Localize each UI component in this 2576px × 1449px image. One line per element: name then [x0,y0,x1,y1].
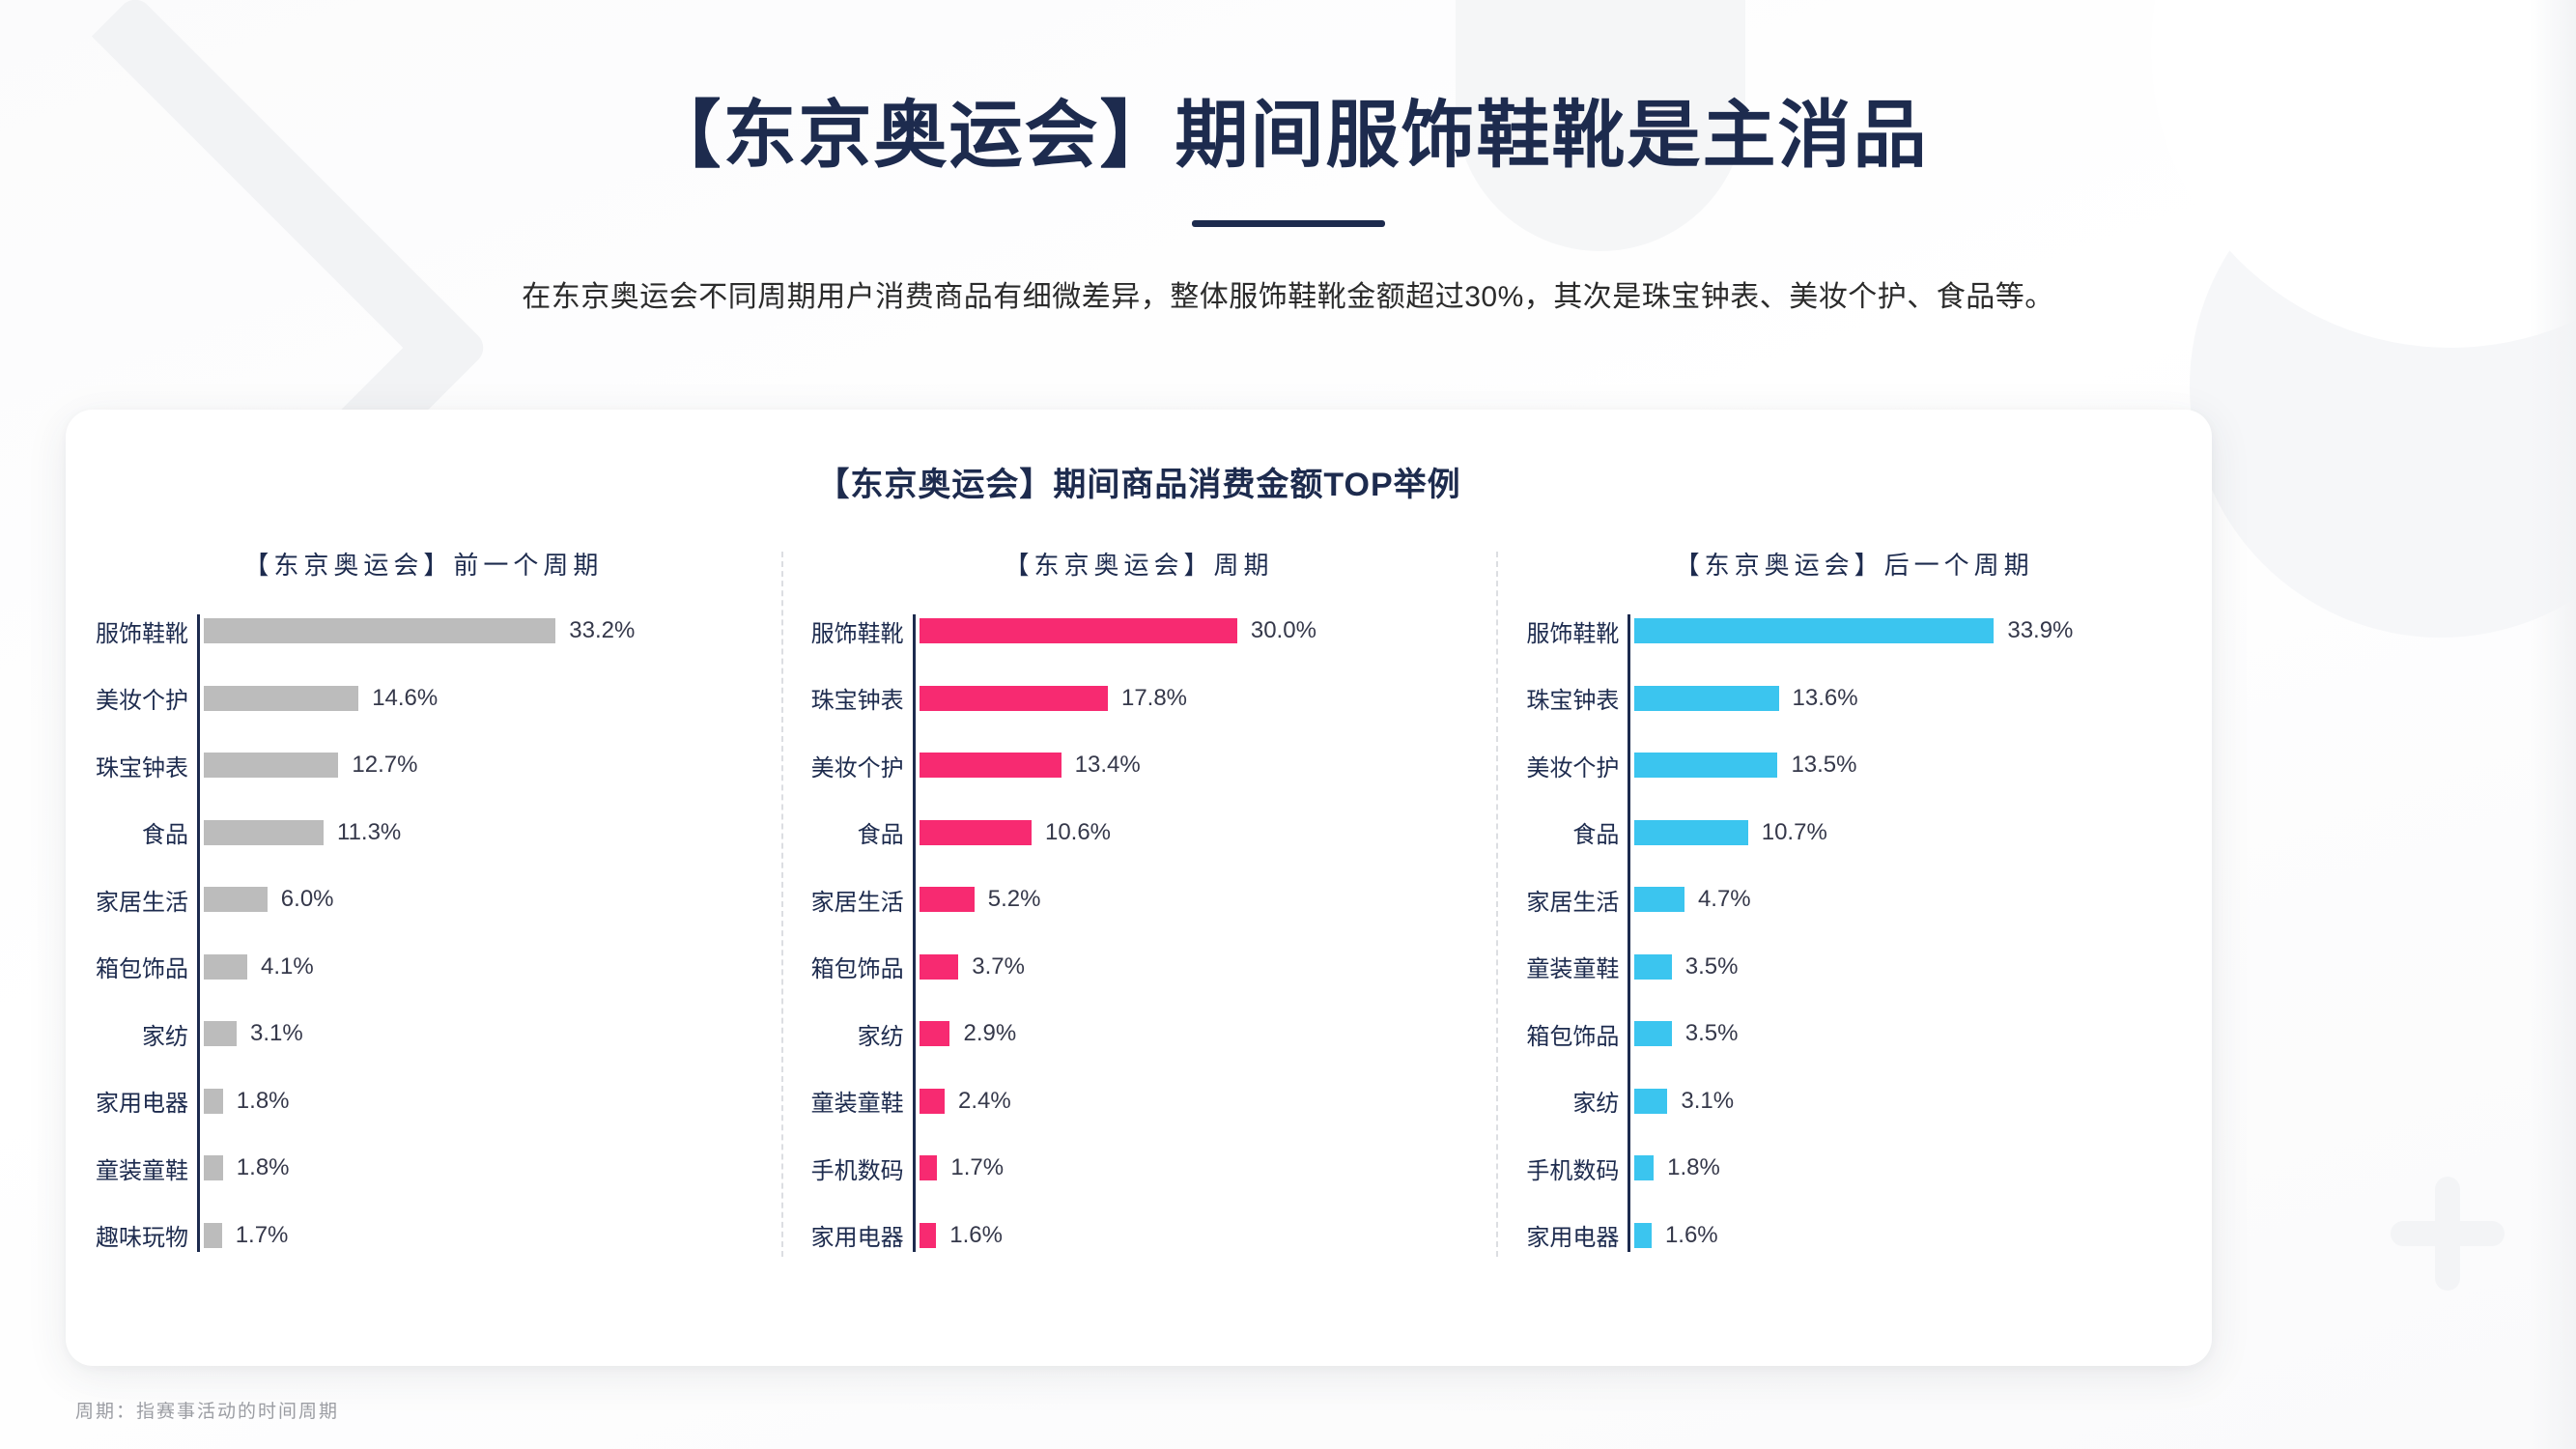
bar [204,618,555,643]
bar-category-label: 手机数码 [811,1151,904,1185]
chart-panels: 【东京奥运会】前一个周期服饰鞋靴33.2%美妆个护14.6%珠宝钟表12.7%食… [66,546,2212,1299]
bar-category-label: 童装童鞋 [811,1084,904,1118]
bar-category-label: 家用电器 [96,1084,188,1118]
bar-value-label: 17.8% [1121,685,1187,712]
bar-value-label: 14.6% [372,685,438,712]
infographic-canvas: 【东京奥运会】期间服饰鞋靴是主消品 在东京奥运会不同周期用户消费商品有细微差异，… [0,0,2576,1449]
bar-row[interactable]: 珠宝钟表17.8% [920,682,1470,715]
page-subtitle: 在东京奥运会不同周期用户消费商品有细微差异，整体服饰鞋靴金额超过30%，其次是珠… [0,275,2576,319]
bar-category-label: 童装童鞋 [1526,950,1619,983]
bar-value-label: 3.5% [1685,953,1739,980]
bar-row[interactable]: 家纺2.9% [920,1017,1470,1050]
bar-value-label: 3.5% [1685,1020,1739,1047]
background-plus-icon-bar [2391,1221,2505,1246]
bar [1634,887,1684,912]
bar [920,887,975,912]
bar-value-label: 3.7% [972,953,1025,980]
bar-row[interactable]: 家居生活4.7% [1634,883,2185,916]
chart-panel-2: 【东京奥运会】周期服饰鞋靴30.0%珠宝钟表17.8%美妆个护13.4%食品10… [781,546,1497,1299]
bar-row[interactable]: 童装童鞋3.5% [1634,951,2185,983]
bar-value-label: 1.8% [1667,1154,1720,1181]
bar-value-label: 1.6% [949,1222,1003,1249]
bar [1634,1223,1652,1248]
panel-title: 【东京奥运会】周期 [791,546,1487,582]
bar-value-label: 13.5% [1791,752,1856,779]
bar [1634,1089,1667,1114]
bar-row[interactable]: 家用电器1.6% [1634,1219,2185,1252]
bar [1634,954,1671,980]
bar-row[interactable]: 箱包饰品3.5% [1634,1017,2185,1050]
bar-row[interactable]: 食品11.3% [204,816,754,849]
bar-category-label: 家纺 [1572,1084,1619,1118]
bar-row[interactable]: 服饰鞋靴33.9% [1634,614,2185,647]
bar-value-label: 3.1% [250,1020,303,1047]
bar-row[interactable]: 食品10.6% [920,816,1470,849]
bar-value-label: 2.9% [963,1020,1016,1047]
bar-category-label: 美妆个护 [811,749,904,782]
bar-value-label: 10.7% [1762,819,1827,846]
chart-panel-1: 【东京奥运会】前一个周期服饰鞋靴33.2%美妆个护14.6%珠宝钟表12.7%食… [66,546,781,1299]
bar-category-label: 箱包饰品 [96,950,188,983]
page-title: 【东京奥运会】期间服饰鞋靴是主消品 [0,93,2576,180]
bar [204,1223,222,1248]
bar-category-label: 手机数码 [1526,1151,1619,1185]
bar-category-label: 服饰鞋靴 [811,614,904,648]
bar [920,1021,950,1046]
bar-value-label: 10.6% [1045,819,1111,846]
bar [204,820,324,845]
bar [920,753,1062,778]
bar-category-label: 家居生活 [96,883,188,917]
chart-card: 【东京奥运会】期间商品消费金额TOP举例 【东京奥运会】前一个周期服饰鞋靴33.… [66,410,2212,1366]
bar-row[interactable]: 珠宝钟表13.6% [1634,682,2185,715]
bar-row[interactable]: 家用电器1.6% [920,1219,1470,1252]
chart-panel-3: 【东京奥运会】后一个周期服饰鞋靴33.9%珠宝钟表13.6%美妆个护13.5%食… [1496,546,2212,1299]
bar [1634,753,1777,778]
bar-value-label: 4.7% [1698,886,1751,913]
panel-title: 【东京奥运会】后一个周期 [1506,546,2202,582]
bar-value-label: 13.6% [1793,685,1858,712]
bar [204,1021,237,1046]
bar-row[interactable]: 珠宝钟表12.7% [204,749,754,781]
plot-area: 服饰鞋靴33.9%珠宝钟表13.6%美妆个护13.5%食品10.7%家居生活4.… [1628,614,2185,1252]
bar [1634,618,1994,643]
bar [920,618,1237,643]
bar-category-label: 家居生活 [811,883,904,917]
bar [1634,820,1747,845]
bar-row[interactable]: 食品10.7% [1634,816,2185,849]
bar-value-label: 1.8% [237,1154,290,1181]
bar-category-label: 珠宝钟表 [96,749,188,782]
bar-category-label: 美妆个护 [1526,749,1619,782]
bar-category-label: 童装童鞋 [96,1151,188,1185]
bar [1634,686,1778,711]
bar-row[interactable]: 美妆个护13.4% [920,749,1470,781]
bar-value-label: 6.0% [281,886,334,913]
bar-row[interactable]: 家纺3.1% [204,1017,754,1050]
bar-row[interactable]: 美妆个护13.5% [1634,749,2185,781]
bar-value-label: 11.3% [337,819,401,846]
bar [1634,1021,1671,1046]
bar-row[interactable]: 服饰鞋靴30.0% [920,614,1470,647]
bar-category-label: 家纺 [142,1017,188,1051]
bar-value-label: 30.0% [1251,617,1316,644]
page-header: 【东京奥运会】期间服饰鞋靴是主消品 在东京奥运会不同周期用户消费商品有细微差异，… [0,0,2576,319]
bar [920,954,959,980]
bar-row[interactable]: 童装童鞋1.8% [204,1151,754,1184]
title-underline-rule [1192,220,1385,227]
bar-value-label: 4.1% [261,953,314,980]
bar-row[interactable]: 手机数码1.8% [1634,1151,2185,1184]
bar-row[interactable]: 家用电器1.8% [204,1085,754,1118]
bar-row[interactable]: 家居生活6.0% [204,883,754,916]
bar [920,686,1108,711]
bar-category-label: 珠宝钟表 [811,681,904,715]
bar [204,1089,223,1114]
bar-value-label: 33.2% [569,617,635,644]
bar-row[interactable]: 家纺3.1% [1634,1085,2185,1118]
bar [204,686,358,711]
chart-title: 【东京奥运会】期间商品消费金额TOP举例 [66,458,2212,505]
bar-category-label: 服饰鞋靴 [1526,614,1619,648]
bar-category-label: 美妆个护 [96,681,188,715]
bar-category-label: 趣味玩物 [96,1218,188,1252]
bar-category-label: 食品 [142,815,188,849]
bar-value-label: 1.6% [1665,1222,1718,1249]
panel-title: 【东京奥运会】前一个周期 [75,546,772,582]
bar-row[interactable]: 美妆个护14.6% [204,682,754,715]
footnote: 周期：指赛事活动的时间周期 [75,1397,339,1423]
bar-row[interactable]: 趣味玩物1.7% [204,1219,754,1252]
bar-value-label: 5.2% [988,886,1041,913]
plot-area: 服饰鞋靴33.2%美妆个护14.6%珠宝钟表12.7%食品11.3%家居生活6.… [197,614,754,1252]
bar-value-label: 3.1% [1681,1088,1734,1115]
bar [920,1155,938,1180]
bar-row[interactable]: 手机数码1.7% [920,1151,1470,1184]
bar-value-label: 1.8% [237,1088,290,1115]
bar [204,954,247,980]
bar-category-label: 食品 [858,815,904,849]
bar [204,1155,223,1180]
bar-category-label: 食品 [1572,815,1619,849]
bar-category-label: 家用电器 [1526,1218,1619,1252]
bar [920,1089,945,1114]
bar [920,1223,937,1248]
bar-row[interactable]: 服饰鞋靴33.2% [204,614,754,647]
bar [204,887,268,912]
bar-row[interactable]: 童装童鞋2.4% [920,1085,1470,1118]
bar-value-label: 1.7% [950,1154,1004,1181]
bar-category-label: 家居生活 [1526,883,1619,917]
bar-value-label: 33.9% [2007,617,2073,644]
bar-value-label: 2.4% [958,1088,1011,1115]
bar-category-label: 家用电器 [811,1218,904,1252]
background-plus-icon [2435,1177,2460,1291]
bar-category-label: 家纺 [858,1017,904,1051]
plot-area: 服饰鞋靴30.0%珠宝钟表17.8%美妆个护13.4%食品10.6%家居生活5.… [913,614,1470,1252]
bar-category-label: 珠宝钟表 [1526,681,1619,715]
bar-category-label: 箱包饰品 [811,950,904,983]
bar [204,753,338,778]
bar [920,820,1032,845]
bar [1634,1155,1654,1180]
bar-category-label: 服饰鞋靴 [96,614,188,648]
bar-row[interactable]: 箱包饰品3.7% [920,951,1470,983]
bar-category-label: 箱包饰品 [1526,1017,1619,1051]
bar-row[interactable]: 家居生活5.2% [920,883,1470,916]
bar-value-label: 13.4% [1075,752,1141,779]
bar-value-label: 1.7% [236,1222,289,1249]
bar-value-label: 12.7% [352,752,417,779]
bar-row[interactable]: 箱包饰品4.1% [204,951,754,983]
